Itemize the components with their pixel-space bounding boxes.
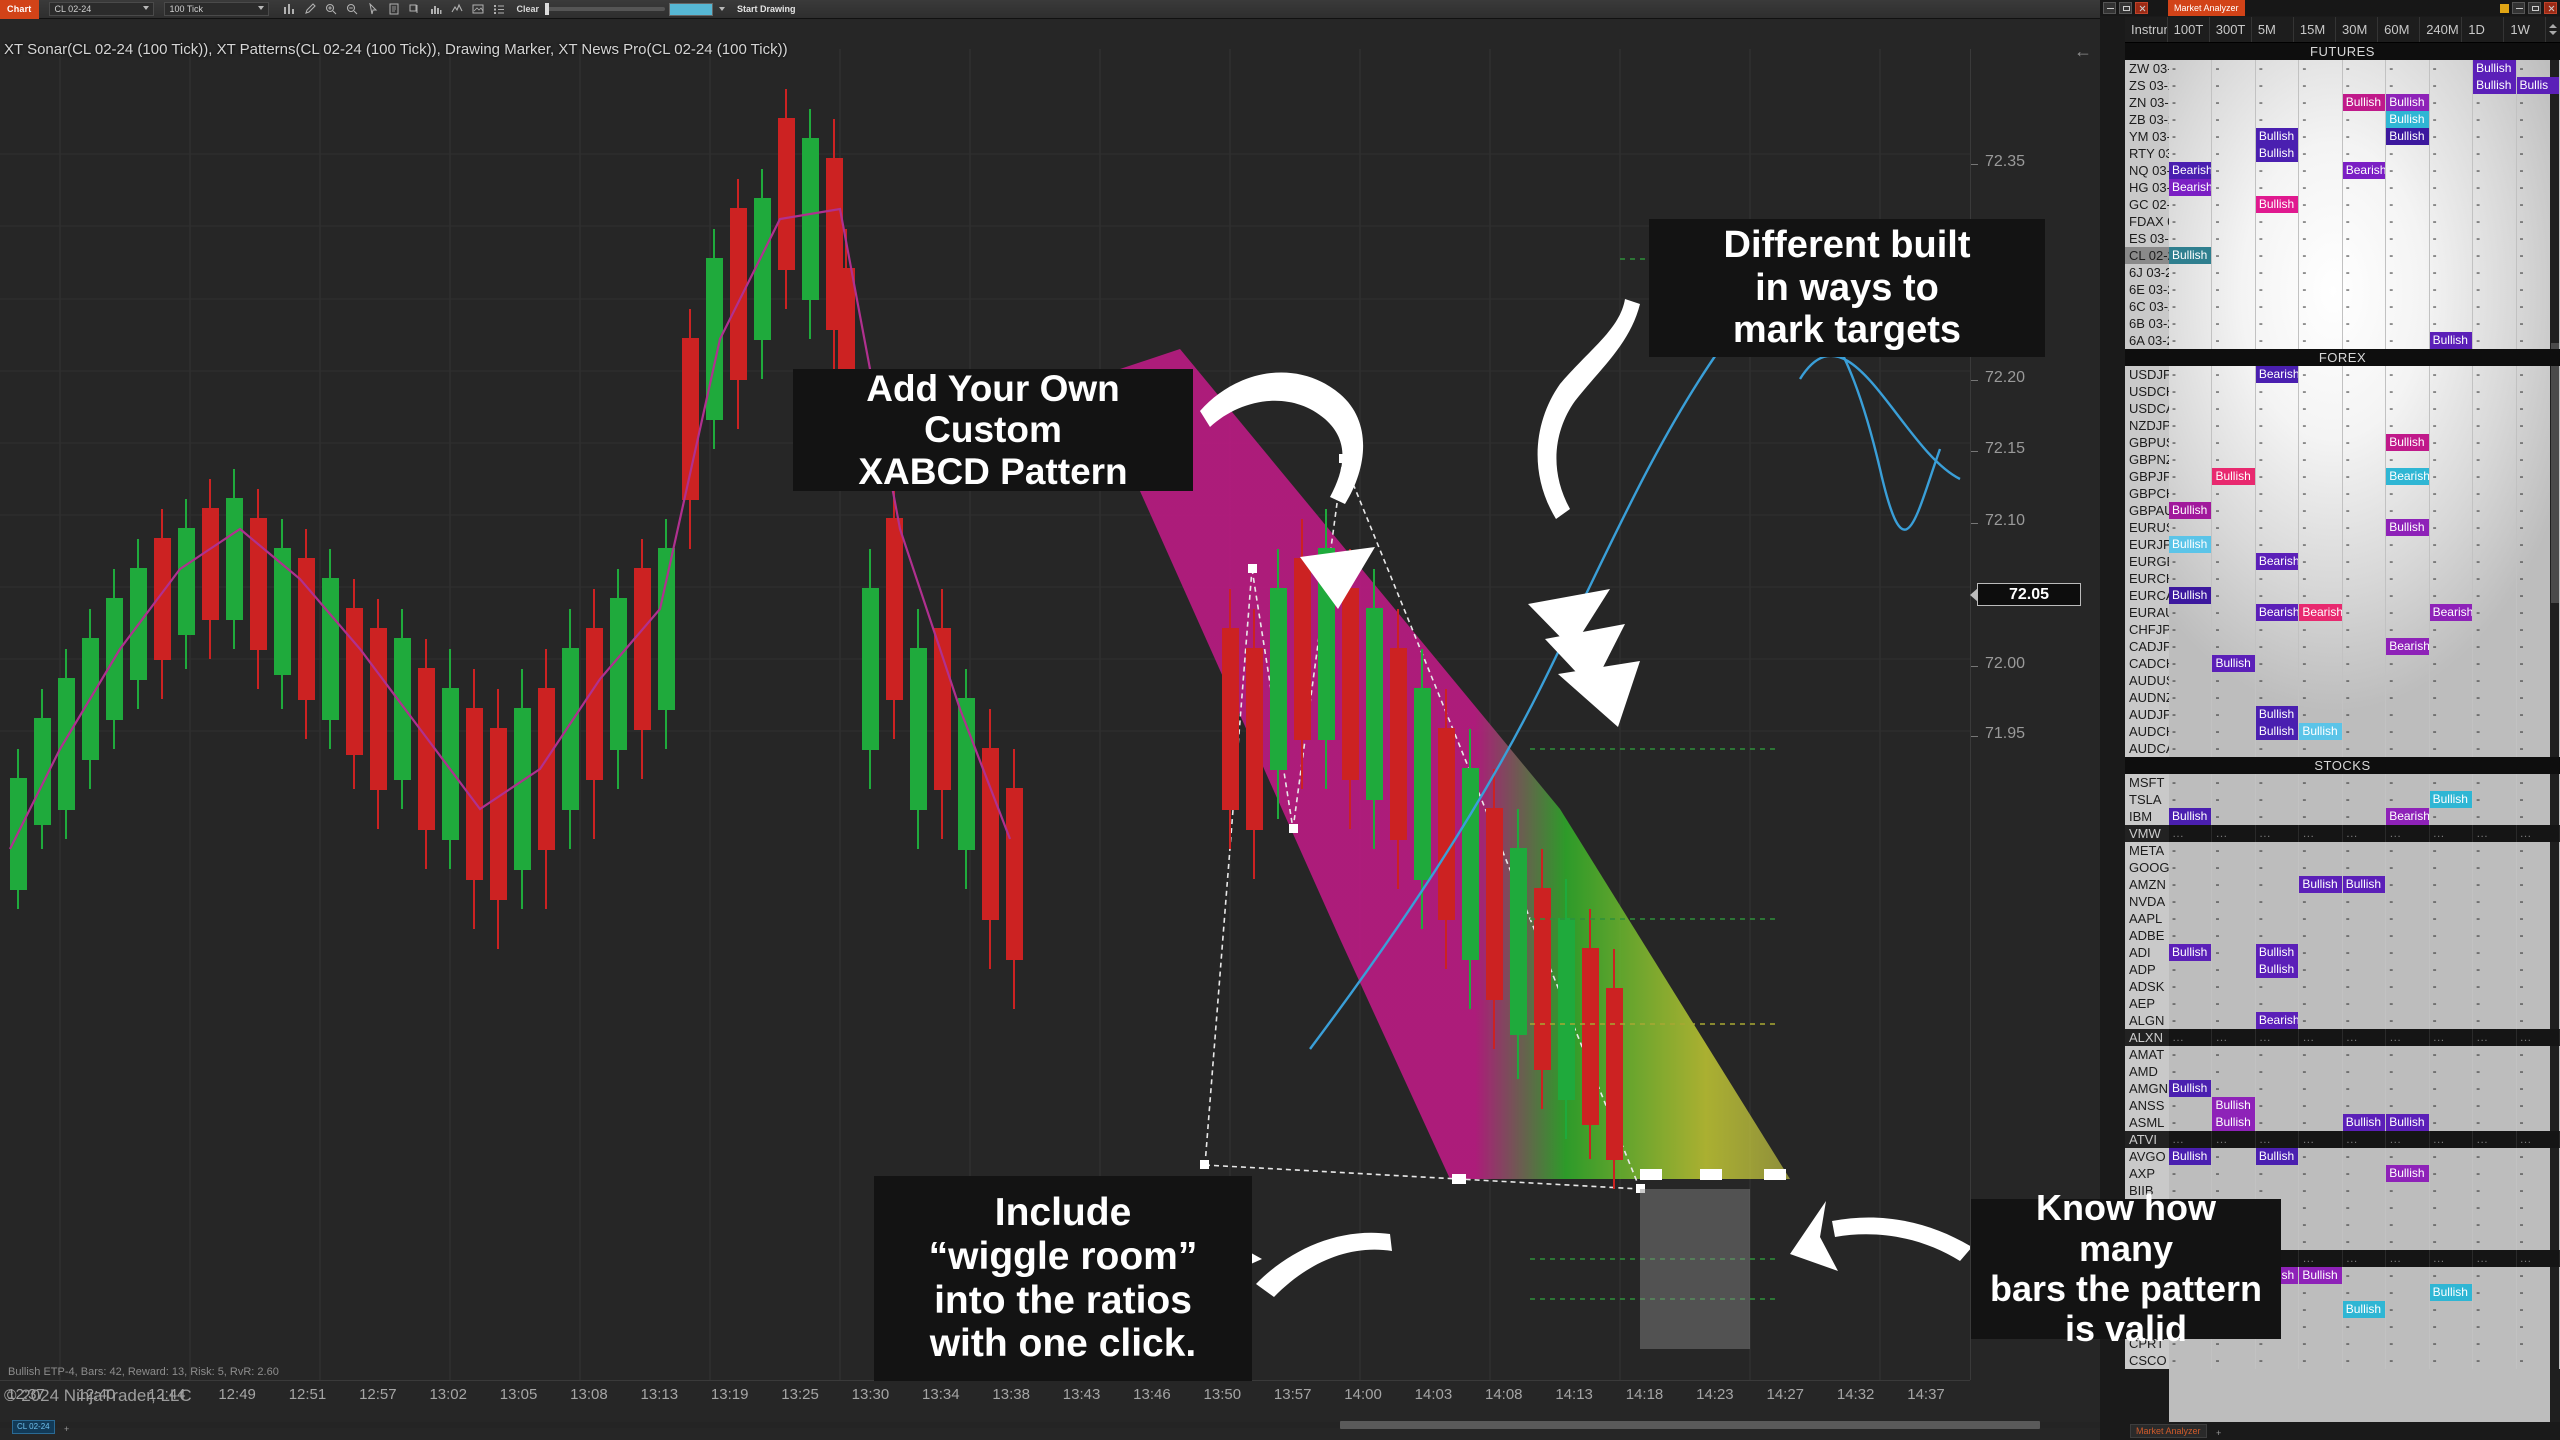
signal-cell[interactable] — [2343, 519, 2386, 536]
table-row[interactable]: YM 03-Bullish EBullish — [2125, 128, 2560, 145]
signal-cell[interactable] — [2473, 1267, 2516, 1284]
signal-cell[interactable] — [2386, 604, 2429, 621]
signal-cell[interactable] — [2473, 383, 2516, 400]
collapse-arrow-icon[interactable]: ← — [2074, 41, 2092, 62]
signal-cell[interactable] — [2256, 995, 2299, 1012]
signal-cell[interactable] — [2343, 1063, 2386, 1080]
signal-cell[interactable] — [2386, 723, 2429, 740]
chevron-down-icon[interactable] — [719, 7, 725, 11]
signal-cell[interactable] — [2299, 893, 2342, 910]
signal-cell[interactable] — [2473, 1318, 2516, 1335]
signal-cell[interactable] — [2386, 876, 2429, 893]
signal-cell[interactable] — [2430, 706, 2473, 723]
signal-cell[interactable] — [2473, 1046, 2516, 1063]
signal-cell[interactable] — [2517, 944, 2560, 961]
table-row[interactable]: GBPAUBullish E — [2125, 502, 2560, 519]
signal-cell[interactable] — [2212, 417, 2255, 434]
table-row[interactable]: USDCA — [2125, 400, 2560, 417]
signal-cell[interactable] — [2517, 808, 2560, 825]
signal-cell[interactable] — [2430, 247, 2473, 264]
signal-cell[interactable] — [2256, 1165, 2299, 1182]
signal-cell[interactable] — [2430, 400, 2473, 417]
signal-cell[interactable] — [2386, 1182, 2429, 1199]
signal-cell[interactable] — [2343, 927, 2386, 944]
signal-cell[interactable] — [2473, 1165, 2516, 1182]
table-row[interactable]: NZDJP — [2125, 417, 2560, 434]
table-row[interactable]: CHFJP — [2125, 621, 2560, 638]
signal-cell[interactable] — [2256, 1114, 2299, 1131]
signal-cell[interactable] — [2430, 1148, 2473, 1165]
signal-cell[interactable] — [2386, 332, 2429, 349]
signal-cell[interactable] — [2343, 723, 2386, 740]
signal-cell[interactable] — [2256, 536, 2299, 553]
signal-cell[interactable] — [2169, 553, 2212, 570]
signal-cell[interactable] — [2343, 417, 2386, 434]
signal-cell[interactable] — [2430, 1335, 2473, 1352]
signal-cell[interactable] — [2169, 927, 2212, 944]
signal-cell[interactable] — [2430, 689, 2473, 706]
add-tab-icon[interactable]: + — [64, 1424, 69, 1434]
signal-cell[interactable] — [2299, 961, 2342, 978]
signal-cell[interactable] — [2169, 706, 2212, 723]
signal-cell[interactable] — [2386, 1335, 2429, 1352]
signal-cell[interactable] — [2517, 638, 2560, 655]
signal-cell[interactable] — [2299, 927, 2342, 944]
table-row[interactable]: 6C 03-2 — [2125, 298, 2560, 315]
signal-cell[interactable] — [2212, 689, 2255, 706]
table-row[interactable]: GC 02-Bullish E — [2125, 196, 2560, 213]
signal-cell[interactable] — [2343, 383, 2386, 400]
signal-cell[interactable]: Bullish F — [2256, 1148, 2299, 1165]
signal-cell[interactable] — [2212, 876, 2255, 893]
signal-cell[interactable] — [2430, 672, 2473, 689]
signal-cell[interactable] — [2517, 570, 2560, 587]
minimize-icon[interactable] — [2103, 2, 2116, 14]
signal-cell[interactable] — [2473, 1012, 2516, 1029]
signal-cell[interactable] — [2299, 247, 2342, 264]
signal-cell[interactable] — [2343, 587, 2386, 604]
signal-cell[interactable] — [2386, 825, 2429, 842]
signal-cell[interactable] — [2517, 1046, 2560, 1063]
signal-cell[interactable] — [2386, 1131, 2429, 1148]
signal-cell[interactable] — [2517, 655, 2560, 672]
signal-cell[interactable]: Bullish E — [2256, 196, 2299, 213]
signal-cell[interactable] — [2517, 281, 2560, 298]
signal-cell[interactable]: Bullish — [2473, 77, 2516, 94]
cursor-icon[interactable] — [367, 3, 379, 15]
signal-cell[interactable] — [2256, 638, 2299, 655]
table-row[interactable]: AUDCA — [2125, 740, 2560, 757]
signal-cell[interactable] — [2256, 434, 2299, 451]
start-drawing-button[interactable]: Start Drawing — [737, 4, 796, 14]
signal-cell[interactable] — [2386, 1080, 2429, 1097]
signal-cell[interactable] — [2386, 1250, 2429, 1267]
signal-cell[interactable] — [2343, 145, 2386, 162]
signal-cell[interactable] — [2386, 1352, 2429, 1369]
signal-cell[interactable] — [2517, 1335, 2560, 1352]
signal-cell[interactable] — [2299, 264, 2342, 281]
chart-workspace-tab[interactable]: CL 02-24 — [12, 1420, 55, 1434]
chart-panel[interactable]: XT Sonar(CL 02-24 (100 Tick)), XT Patter… — [0, 19, 2100, 1440]
signal-cell[interactable] — [2386, 1063, 2429, 1080]
signal-cell[interactable] — [2473, 910, 2516, 927]
signal-cell[interactable] — [2343, 451, 2386, 468]
signal-cell[interactable] — [2386, 893, 2429, 910]
signal-cell[interactable] — [2299, 1216, 2342, 1233]
signal-cell[interactable] — [2343, 485, 2386, 502]
signal-cell[interactable] — [2517, 366, 2560, 383]
signal-cell[interactable] — [2386, 995, 2429, 1012]
signal-cell[interactable] — [2386, 366, 2429, 383]
signal-cell[interactable] — [2343, 1046, 2386, 1063]
signal-cell[interactable]: Bullish F — [2169, 944, 2212, 961]
signal-cell[interactable] — [2430, 502, 2473, 519]
signal-cell[interactable] — [2299, 162, 2342, 179]
table-row[interactable]: CADJPBearish — [2125, 638, 2560, 655]
signal-cell[interactable] — [2473, 400, 2516, 417]
signal-cell[interactable] — [2212, 587, 2255, 604]
signal-cell[interactable] — [2517, 128, 2560, 145]
signal-cell[interactable] — [2517, 587, 2560, 604]
signal-cell[interactable] — [2473, 332, 2516, 349]
signal-cell[interactable]: Bullish — [2430, 332, 2473, 349]
signal-cell[interactable] — [2169, 230, 2212, 247]
signal-cell[interactable] — [2430, 995, 2473, 1012]
signal-cell[interactable] — [2430, 77, 2473, 94]
signal-cell[interactable] — [2343, 808, 2386, 825]
signal-cell[interactable] — [2517, 1080, 2560, 1097]
signal-cell[interactable] — [2212, 825, 2255, 842]
signal-cell[interactable] — [2473, 1335, 2516, 1352]
signal-cell[interactable] — [2473, 740, 2516, 757]
column-header-5m[interactable]: 5M — [2252, 17, 2294, 42]
slider-knob[interactable] — [545, 3, 549, 15]
table-row[interactable]: FDAX 0 — [2125, 213, 2560, 230]
signal-cell[interactable] — [2169, 366, 2212, 383]
signal-cell[interactable] — [2212, 315, 2255, 332]
table-row[interactable]: AUDNZ — [2125, 689, 2560, 706]
signal-cell[interactable] — [2343, 1012, 2386, 1029]
signal-cell[interactable] — [2430, 1216, 2473, 1233]
market-analyzer-column-headers[interactable]: Instrum100T300T5M15M30M60M240M1D1W — [2125, 17, 2560, 43]
signal-cell[interactable] — [2473, 315, 2516, 332]
signal-cell[interactable] — [2299, 315, 2342, 332]
signal-cell[interactable] — [2343, 1080, 2386, 1097]
signal-cell[interactable] — [2343, 1097, 2386, 1114]
histogram-icon[interactable] — [430, 3, 442, 15]
signal-cell[interactable] — [2430, 910, 2473, 927]
signal-cell[interactable] — [2299, 791, 2342, 808]
signal-cell[interactable] — [2343, 400, 2386, 417]
signal-cell[interactable] — [2169, 196, 2212, 213]
signal-cell[interactable] — [2299, 1301, 2342, 1318]
table-row[interactable]: AMGNBullish E — [2125, 1080, 2560, 1097]
signal-cell[interactable] — [2212, 859, 2255, 876]
signal-cell[interactable] — [2430, 1301, 2473, 1318]
signal-cell[interactable] — [2299, 944, 2342, 961]
image-icon[interactable] — [472, 3, 484, 15]
table-row[interactable]: ALXN — [2125, 1029, 2560, 1046]
signal-cell[interactable] — [2212, 638, 2255, 655]
signal-cell[interactable] — [2473, 1182, 2516, 1199]
signal-cell[interactable] — [2517, 706, 2560, 723]
instrument-selector[interactable]: CL 02-24 — [49, 2, 154, 16]
signal-cell[interactable] — [2212, 808, 2255, 825]
signal-cell[interactable] — [2517, 145, 2560, 162]
signal-cell[interactable] — [2256, 910, 2299, 927]
signal-cell[interactable] — [2473, 247, 2516, 264]
signal-cell[interactable] — [2299, 1284, 2342, 1301]
table-row[interactable]: AMZNBullishBullish — [2125, 876, 2560, 893]
signal-cell[interactable]: Bearish — [2256, 553, 2299, 570]
signal-cell[interactable] — [2256, 893, 2299, 910]
signal-cell[interactable] — [2473, 196, 2516, 213]
signal-cell[interactable] — [2473, 859, 2516, 876]
signal-cell[interactable] — [2212, 1029, 2255, 1046]
signal-cell[interactable] — [2517, 451, 2560, 468]
signal-cell[interactable] — [2256, 1131, 2299, 1148]
signal-cell[interactable]: Bullish — [2299, 876, 2342, 893]
signal-cell[interactable] — [2517, 740, 2560, 757]
signal-cell[interactable] — [2256, 978, 2299, 995]
signal-cell[interactable] — [2212, 264, 2255, 281]
signal-cell[interactable] — [2473, 298, 2516, 315]
signal-cell[interactable] — [2169, 1046, 2212, 1063]
table-row[interactable]: IBMBullish FBearish — [2125, 808, 2560, 825]
signal-cell[interactable] — [2343, 366, 2386, 383]
column-header-15m[interactable]: 15M — [2294, 17, 2336, 42]
signal-cell[interactable] — [2517, 1012, 2560, 1029]
signal-cell[interactable] — [2169, 77, 2212, 94]
table-row[interactable]: EURJPBullish E — [2125, 536, 2560, 553]
signal-cell[interactable] — [2343, 859, 2386, 876]
signal-cell[interactable] — [2430, 587, 2473, 604]
signal-cell[interactable] — [2343, 638, 2386, 655]
signal-cell[interactable] — [2517, 434, 2560, 451]
signal-cell[interactable] — [2386, 417, 2429, 434]
signal-cell[interactable]: Bullish E — [2169, 502, 2212, 519]
table-row[interactable]: GBPNZ — [2125, 451, 2560, 468]
signal-cell[interactable] — [2343, 315, 2386, 332]
signal-cell[interactable] — [2169, 298, 2212, 315]
signal-cell[interactable]: Bullish — [2343, 876, 2386, 893]
signal-cell[interactable] — [2256, 400, 2299, 417]
signal-cell[interactable] — [2169, 689, 2212, 706]
maximize-icon[interactable] — [2119, 2, 2132, 14]
signal-cell[interactable] — [2343, 553, 2386, 570]
signal-cell[interactable] — [2473, 808, 2516, 825]
signal-cell[interactable] — [2430, 451, 2473, 468]
column-spinner-icon[interactable] — [2546, 17, 2559, 42]
signal-cell[interactable]: Bearish — [2299, 604, 2342, 621]
signal-cell[interactable] — [2299, 740, 2342, 757]
signal-cell[interactable] — [2299, 128, 2342, 145]
table-row[interactable]: CSCO — [2125, 1352, 2560, 1369]
signal-cell[interactable] — [2343, 1284, 2386, 1301]
signal-cell[interactable] — [2299, 213, 2342, 230]
signal-cell[interactable] — [2386, 536, 2429, 553]
signal-cell[interactable] — [2343, 978, 2386, 995]
signal-cell[interactable] — [2212, 434, 2255, 451]
signal-cell[interactable] — [2430, 978, 2473, 995]
signal-cell[interactable] — [2299, 196, 2342, 213]
maximize-icon[interactable] — [2528, 2, 2541, 14]
table-row[interactable]: ADSK — [2125, 978, 2560, 995]
table-row[interactable]: AAPL — [2125, 910, 2560, 927]
signal-cell[interactable] — [2169, 400, 2212, 417]
table-row[interactable]: ATVI — [2125, 1131, 2560, 1148]
signal-cell[interactable] — [2299, 1012, 2342, 1029]
signal-cell[interactable] — [2386, 281, 2429, 298]
signal-cell[interactable] — [2430, 179, 2473, 196]
signal-cell[interactable] — [2212, 230, 2255, 247]
signal-cell[interactable] — [2517, 1097, 2560, 1114]
signal-cell[interactable] — [2212, 162, 2255, 179]
table-row[interactable]: ASMLBullish FBullishBullish — [2125, 1114, 2560, 1131]
signal-cell[interactable] — [2256, 247, 2299, 264]
signal-cell[interactable] — [2517, 94, 2560, 111]
signal-cell[interactable] — [2299, 570, 2342, 587]
signal-cell[interactable] — [2430, 893, 2473, 910]
close-icon[interactable] — [2135, 2, 2148, 14]
signal-cell[interactable] — [2430, 1029, 2473, 1046]
signal-cell[interactable] — [2343, 1267, 2386, 1284]
signal-cell[interactable] — [2430, 128, 2473, 145]
signal-cell[interactable] — [2473, 1216, 2516, 1233]
signal-cell[interactable] — [2473, 1284, 2516, 1301]
signal-cell[interactable] — [2517, 553, 2560, 570]
signal-cell[interactable] — [2517, 1165, 2560, 1182]
signal-cell[interactable]: Bearish — [2386, 468, 2429, 485]
signal-cell[interactable] — [2517, 179, 2560, 196]
column-header-240m[interactable]: 240M — [2420, 17, 2462, 42]
signal-cell[interactable] — [2212, 298, 2255, 315]
signal-cell[interactable] — [2212, 536, 2255, 553]
signal-cell[interactable] — [2386, 774, 2429, 791]
signal-cell[interactable] — [2386, 77, 2429, 94]
signal-cell[interactable] — [2430, 621, 2473, 638]
signal-cell[interactable] — [2256, 179, 2299, 196]
signal-cell[interactable] — [2256, 315, 2299, 332]
signal-cell[interactable] — [2430, 944, 2473, 961]
signal-cell[interactable] — [2212, 570, 2255, 587]
signal-cell[interactable] — [2517, 1029, 2560, 1046]
signal-cell[interactable] — [2212, 893, 2255, 910]
table-row[interactable]: EURGEBearish — [2125, 553, 2560, 570]
signal-cell[interactable] — [2299, 1029, 2342, 1046]
signal-cell[interactable] — [2517, 315, 2560, 332]
signal-cell[interactable] — [2299, 332, 2342, 349]
signal-cell[interactable] — [2299, 400, 2342, 417]
signal-cell[interactable] — [2256, 1063, 2299, 1080]
signal-cell[interactable]: Bullis — [2517, 77, 2560, 94]
signal-cell[interactable] — [2256, 77, 2299, 94]
signal-cell[interactable]: Bullish F — [2212, 468, 2255, 485]
table-row[interactable]: GBPJPBullish FBearish — [2125, 468, 2560, 485]
signal-cell[interactable] — [2386, 689, 2429, 706]
signal-cell[interactable] — [2473, 978, 2516, 995]
signal-cell[interactable]: Bearish — [2343, 162, 2386, 179]
signal-cell[interactable] — [2212, 604, 2255, 621]
signal-cell[interactable] — [2386, 1148, 2429, 1165]
signal-cell[interactable] — [2299, 1131, 2342, 1148]
signal-cell[interactable] — [2430, 1114, 2473, 1131]
signal-cell[interactable] — [2386, 961, 2429, 978]
signal-cell[interactable] — [2473, 1250, 2516, 1267]
signal-cell[interactable] — [2169, 621, 2212, 638]
signal-cell[interactable] — [2299, 298, 2342, 315]
signal-cell[interactable] — [2169, 145, 2212, 162]
signal-cell[interactable] — [2430, 825, 2473, 842]
signal-cell[interactable] — [2212, 247, 2255, 264]
signal-cell[interactable] — [2386, 1012, 2429, 1029]
signal-cell[interactable] — [2343, 1165, 2386, 1182]
signal-cell[interactable]: Bullish E — [2256, 145, 2299, 162]
table-row[interactable]: USDCH — [2125, 383, 2560, 400]
signal-cell[interactable] — [2256, 859, 2299, 876]
signal-cell[interactable] — [2169, 604, 2212, 621]
signal-cell[interactable] — [2169, 859, 2212, 876]
signal-cell[interactable] — [2517, 672, 2560, 689]
signal-cell[interactable]: Bullish — [2473, 60, 2516, 77]
table-row[interactable]: ZB 03-2Bullish — [2125, 111, 2560, 128]
signal-cell[interactable] — [2212, 553, 2255, 570]
signal-cell[interactable] — [2256, 1352, 2299, 1369]
signal-cell[interactable] — [2430, 94, 2473, 111]
signal-cell[interactable]: Bullish E — [2169, 247, 2212, 264]
signal-cell[interactable] — [2212, 366, 2255, 383]
signal-cell[interactable] — [2430, 1233, 2473, 1250]
signal-cell[interactable] — [2169, 128, 2212, 145]
table-row[interactable]: MSFT — [2125, 774, 2560, 791]
table-row[interactable]: ADIBullish FBullish F — [2125, 944, 2560, 961]
signal-cell[interactable] — [2473, 1199, 2516, 1216]
signal-cell[interactable] — [2473, 417, 2516, 434]
table-row[interactable]: GBPCH — [2125, 485, 2560, 502]
signal-cell[interactable] — [2386, 1046, 2429, 1063]
signal-cell[interactable] — [2299, 502, 2342, 519]
signal-cell[interactable] — [2343, 264, 2386, 281]
signal-cell[interactable] — [2343, 60, 2386, 77]
signal-cell[interactable] — [2473, 179, 2516, 196]
signal-cell[interactable]: Bullish F — [2169, 808, 2212, 825]
signal-cell[interactable] — [2386, 298, 2429, 315]
column-header-60m[interactable]: 60M — [2378, 17, 2420, 42]
signal-cell[interactable] — [2517, 774, 2560, 791]
signal-cell[interactable] — [2517, 485, 2560, 502]
signal-cell[interactable] — [2169, 910, 2212, 927]
signal-cell[interactable] — [2473, 689, 2516, 706]
signal-cell[interactable] — [2299, 1233, 2342, 1250]
signal-cell[interactable] — [2212, 978, 2255, 995]
signal-cell[interactable] — [2430, 468, 2473, 485]
signal-cell[interactable] — [2517, 859, 2560, 876]
signal-cell[interactable] — [2386, 1216, 2429, 1233]
table-row[interactable]: ZW 03-Bullish — [2125, 60, 2560, 77]
signal-cell[interactable]: Bullish E — [2212, 1097, 2255, 1114]
signal-cell[interactable] — [2473, 1097, 2516, 1114]
signal-cell[interactable] — [2517, 1233, 2560, 1250]
signal-cell[interactable] — [2169, 451, 2212, 468]
signal-cell[interactable] — [2256, 1080, 2299, 1097]
signal-cell[interactable] — [2430, 1250, 2473, 1267]
signal-cell[interactable] — [2169, 434, 2212, 451]
signal-cell[interactable] — [2343, 570, 2386, 587]
table-row[interactable]: ALGNBearish — [2125, 1012, 2560, 1029]
interval-selector[interactable]: 100 Tick — [164, 2, 269, 16]
signal-cell[interactable] — [2386, 672, 2429, 689]
signal-cell[interactable] — [2169, 978, 2212, 995]
